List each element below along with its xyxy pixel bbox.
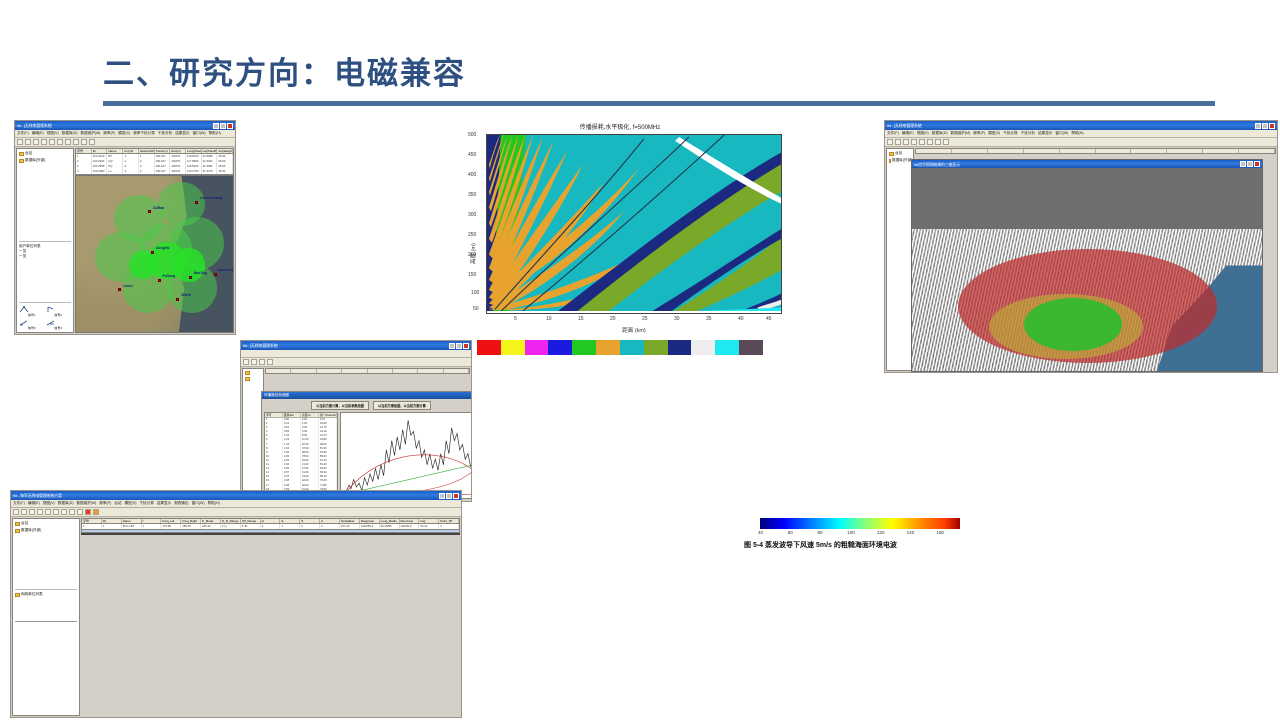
city-marker[interactable] <box>176 298 179 301</box>
tree-item-database[interactable]: 数据库(外部) <box>889 158 911 163</box>
grid-line-horizontal <box>82 534 459 535</box>
tree-divider <box>15 621 77 622</box>
y-coordinate-label: 37 000N <box>86 534 97 535</box>
profile-table[interactable]: 序号 距离/km 高度/m 第一Fresnel/m 10.200.000.072… <box>264 412 338 499</box>
sky <box>912 168 1262 237</box>
folder-icon <box>19 159 24 163</box>
window-title: rfa - 海军无线电管理系统方案 <box>13 493 62 498</box>
y-tick: 300 <box>468 212 476 218</box>
y-tick: 150 <box>468 272 476 278</box>
antenna-icon[interactable] <box>89 139 95 145</box>
menu-item[interactable]: 模型(X) <box>988 131 1000 136</box>
menu-item[interactable]: 干扰计算 <box>1003 131 1017 136</box>
table-row[interactable]: 4103.2980Lu-14100.107100071119 275031.42… <box>76 169 233 174</box>
panel-network-link-map[interactable]: rfa - 海军无线电管理系统方案 文件(F) 编辑(E) 视图(V) 数据库(… <box>10 490 462 718</box>
tree-item-database[interactable]: 数据库(外部) <box>19 158 71 163</box>
toolbar[interactable] <box>241 358 471 367</box>
paste-icon[interactable] <box>57 139 63 145</box>
new-icon[interactable] <box>13 509 19 515</box>
node-marker[interactable] <box>225 534 228 535</box>
node-marker[interactable] <box>286 534 289 535</box>
y-tick: 100 <box>471 290 479 296</box>
column-header[interactable]: Recvnote <box>400 519 420 523</box>
zoom-out-icon[interactable] <box>69 509 75 515</box>
menu-item[interactable]: 频率干扰计算 <box>133 131 155 136</box>
dialog-titlebar[interactable]: 传播路径剖面图 <box>262 392 472 399</box>
menu-item[interactable]: 帮助(H) <box>209 131 221 136</box>
zoom-in-icon[interactable] <box>919 139 925 145</box>
x-tick: 25 <box>642 316 648 322</box>
node-marker[interactable] <box>221 534 224 535</box>
window-titlebar[interactable]: rfa - [无线电管理系统] <box>15 121 235 130</box>
x-tick: 10 <box>546 316 552 322</box>
compute-current-scheme-button[interactable]: 以当前方案计算，以当前参数绘图 <box>311 401 369 410</box>
y-tick: 200 <box>468 252 476 258</box>
panel-terrain-profile-app[interactable]: rfa - [无线电管理系统] rfa - [无线电管理系统] 传播路径剖面图 … <box>240 340 472 502</box>
window-titlebar[interactable]: rfa - [无线电管理系统] <box>885 121 1277 130</box>
column-header[interactable]: Long(%aoRe) <box>186 149 202 153</box>
colorbar-tick: 100 <box>847 530 877 535</box>
colorbar-ticks: 40 60 80 100 120 140 160 <box>758 530 966 535</box>
node-marker[interactable] <box>308 534 311 535</box>
x-coordinate-label: 117 800E <box>402 534 415 535</box>
y-tick: 500 <box>468 132 476 138</box>
colorbar-tick: 60 <box>788 530 818 535</box>
column-header[interactable]: Netwlabel <box>340 519 360 523</box>
menubar[interactable]: 文件(F) 编辑(E) 视图(V) 数据库(D) 数据维护(M) 频率(P) 模… <box>885 130 1277 138</box>
window-titlebar[interactable]: rfa - 海军无线电管理系统方案 <box>11 491 461 500</box>
link-map[interactable]: 116 000E 118 000E 117 000E 117 500E 117 … <box>81 533 460 535</box>
zoom-out-icon[interactable] <box>927 139 933 145</box>
figure-caption-5-4: 图 5-4 蒸发波导下风速 5m/s 的粗糙海面环境电波 <box>744 540 1044 550</box>
x-tick: 35 <box>706 316 712 322</box>
menu-item[interactable]: 数据维护(M) <box>81 131 101 136</box>
open-icon[interactable] <box>21 509 27 515</box>
city-label: WuHu <box>181 293 191 297</box>
node-marker[interactable] <box>297 534 300 535</box>
maximize-icon[interactable] <box>1247 161 1253 167</box>
check-icon[interactable] <box>53 509 59 515</box>
minimize-icon[interactable] <box>449 343 455 349</box>
city-marker[interactable] <box>189 276 192 279</box>
node-marker[interactable] <box>191 534 194 535</box>
column-header[interactable]: H <box>261 519 281 523</box>
column-header[interactable]: E <box>280 519 300 523</box>
column-header[interactable]: 序号 <box>265 413 283 417</box>
node-marker[interactable] <box>271 534 274 535</box>
menu-item[interactable]: 编辑(E) <box>28 501 40 506</box>
column-header[interactable]: NetworkID <box>139 149 155 153</box>
node-marker[interactable] <box>286 534 289 535</box>
column-header[interactable]: P_Mode <box>201 519 221 523</box>
table-body[interactable]: 10.200.000.0720.411.0016.0030.612.0021.7… <box>265 418 337 499</box>
city-marker[interactable] <box>214 273 217 276</box>
save-icon[interactable] <box>259 359 265 365</box>
window-title: rfa - [无线电管理系统] <box>243 343 278 348</box>
undo-icon[interactable] <box>65 139 71 145</box>
node-marker[interactable] <box>263 534 266 535</box>
antenna-icon[interactable] <box>943 139 949 145</box>
colorbar-tick: 80 <box>817 530 847 535</box>
node-marker[interactable] <box>225 534 228 535</box>
menu-item[interactable]: 台站 <box>114 501 121 506</box>
colorbar-tick: 140 <box>907 530 937 535</box>
node-marker[interactable] <box>297 534 300 535</box>
tree-panel[interactable]: 台站 数据库(外部) <box>886 148 914 371</box>
menu-item[interactable]: 视图(V) <box>917 131 929 136</box>
record-icon[interactable] <box>85 509 91 515</box>
menu-item[interactable]: 窗口(W) <box>193 131 206 136</box>
menu-item[interactable]: 报表输出 <box>174 501 188 506</box>
save-icon[interactable] <box>903 139 909 145</box>
open-icon[interactable] <box>895 139 901 145</box>
menu-item[interactable]: 文件(F) <box>887 131 899 136</box>
node-marker[interactable] <box>180 534 183 535</box>
menu-item[interactable]: 结果显示 <box>1038 131 1052 136</box>
tree-item[interactable] <box>245 371 261 375</box>
tree-item-label: 数据库(外部) <box>25 158 45 163</box>
child-window-titlebar[interactable]: rfa信号预测结果的三维显示 <box>912 160 1262 168</box>
panel-terrain-3d-coverage[interactable]: rfa - [无线电管理系统] 文件(F) 编辑(E) 视图(V) 数据库(D)… <box>884 120 1278 373</box>
pan-icon[interactable] <box>935 139 941 145</box>
city-marker[interactable] <box>148 210 151 213</box>
city-label: FuDong <box>162 274 175 278</box>
node-marker[interactable] <box>195 534 198 535</box>
menu-item[interactable]: 干扰分析 <box>1021 131 1035 136</box>
profile-plot <box>340 412 472 499</box>
node-marker[interactable] <box>267 534 270 535</box>
folder-icon <box>15 522 20 526</box>
close-icon[interactable] <box>463 343 469 349</box>
column-header[interactable]: Trans(m) <box>155 149 171 153</box>
close-icon[interactable] <box>453 493 459 499</box>
window-title: rfa - [无线电管理系统] <box>887 123 922 128</box>
column-header[interactable]: Reqgroup <box>360 519 380 523</box>
toolbar[interactable] <box>885 138 1277 147</box>
city-marker[interactable] <box>118 288 121 291</box>
print-icon[interactable] <box>911 139 917 145</box>
tree-item-stations[interactable]: 台站 <box>15 521 77 526</box>
signal-icon-1[interactable]: 信号1 <box>19 305 45 317</box>
coverage-green-zone <box>1024 298 1122 351</box>
node-marker[interactable] <box>267 534 270 535</box>
y-coordinate-label: 39 000N <box>86 534 97 535</box>
menubar[interactable]: 文件(F) 编辑(E) 视图(V) 数据库(D) 数据维护(M) 频率(P) 模… <box>15 130 235 138</box>
plot-current-scheme-button[interactable]: 以当前方案绘图，以当前方案计算 <box>373 401 431 410</box>
menu-item[interactable]: 编辑(E) <box>902 131 914 136</box>
colorbar-tick: 120 <box>877 530 907 535</box>
column-header[interactable]: Lat(%aoRe) <box>202 149 218 153</box>
menu-item[interactable]: 频率(P) <box>103 131 115 136</box>
city-label: NanJing <box>194 271 207 275</box>
column-header[interactable]: A <box>320 519 340 523</box>
cut-icon[interactable] <box>41 139 47 145</box>
signal-icon-4[interactable]: 信号4 <box>46 318 72 330</box>
column-header[interactable]: f <box>142 519 162 523</box>
new-icon[interactable] <box>887 139 893 145</box>
menu-item[interactable]: 结果显示 <box>175 131 189 136</box>
tree-item-database[interactable]: 数据库(外部) <box>15 528 77 533</box>
city-label: DongTai <box>156 246 169 250</box>
node-marker[interactable] <box>191 534 194 535</box>
column-header[interactable]: 距离/km <box>283 413 301 417</box>
link-icon[interactable] <box>45 509 51 515</box>
column-header[interactable]: D_R_Range <box>221 519 241 523</box>
open-icon[interactable] <box>25 139 31 145</box>
coverage-map[interactable]: LianYunGang ZuiBao DongTai FuDong LinAn … <box>75 175 234 333</box>
terrain-profile-dialog[interactable]: 传播路径剖面图 以当前方案计算，以当前参数绘图 以当前方案绘图，以当前方案计算 … <box>261 391 472 502</box>
signal-icon-2[interactable]: 信号2 <box>46 305 72 317</box>
coverage-core <box>129 251 157 279</box>
menubar[interactable]: rfa - [无线电管理系统] <box>241 350 471 358</box>
tree-panel[interactable]: 台站 数据库(外部) 网络单位列表 <box>12 518 80 716</box>
grid-line-horizontal <box>82 534 459 535</box>
column-header[interactable]: S <box>300 519 320 523</box>
warning-icon[interactable] <box>93 509 99 515</box>
menu-item[interactable]: 模型(X) <box>124 501 136 506</box>
y-tick: 350 <box>468 192 476 198</box>
column-header[interactable]: Point_RT <box>439 519 459 523</box>
folder-icon <box>19 152 24 156</box>
unit-list-section: 用户单位列表 一览 一览 <box>19 241 71 259</box>
menu-item[interactable]: 数据库(D) <box>62 131 78 136</box>
menu-item[interactable]: 视图(V) <box>47 131 59 136</box>
child-window-3d[interactable]: rfa信号预测结果的三维显示 <box>911 159 1263 372</box>
pan-icon[interactable] <box>77 509 83 515</box>
menu-item[interactable]: 数据维护(M) <box>951 131 971 136</box>
column-header[interactable]: Long_Radio <box>380 519 400 523</box>
column-header[interactable]: 高度/m <box>301 413 319 417</box>
maximize-icon[interactable] <box>1262 123 1268 129</box>
city-label: YanCheng <box>217 268 234 272</box>
map-region-tooltip[interactable]: Huabei <box>97 534 133 535</box>
column-header[interactable]: 序号 <box>82 519 102 523</box>
node-marker[interactable] <box>293 534 296 535</box>
x-tick: 45 <box>766 316 772 322</box>
folder-icon <box>889 159 891 163</box>
menu-item[interactable]: 数据维护(M) <box>77 501 97 506</box>
terrain-3d-view[interactable] <box>912 168 1262 371</box>
grid-line-horizontal <box>82 534 459 535</box>
station-table-header <box>915 148 1276 154</box>
x-tick: 15 <box>578 316 584 322</box>
window-titlebar[interactable]: rfa - [无线电管理系统] <box>241 341 471 350</box>
y-tick: 400 <box>468 172 476 178</box>
column-header[interactable]: 第一Fresnel/m <box>319 413 337 417</box>
discrete-colorbar <box>477 340 763 355</box>
save-icon[interactable] <box>33 139 39 145</box>
window-buttons[interactable] <box>1240 161 1260 167</box>
menu-item[interactable]: 窗口(W) <box>192 501 205 506</box>
column-header[interactable]: Rec(m) <box>170 149 186 153</box>
x-coordinate-label: 117 500E <box>353 534 366 535</box>
window-buttons[interactable] <box>439 493 459 499</box>
folder-icon <box>245 371 250 375</box>
save-icon[interactable] <box>29 509 35 515</box>
menu-item[interactable]: 文件(F) <box>13 501 25 506</box>
title-divider <box>103 101 1215 106</box>
tree-panel[interactable]: 台站 数据库(外部) 用户单位列表 一览 一览 信号1 信号2 信号3 信号4 <box>16 148 74 333</box>
folder-icon <box>15 529 20 533</box>
y-tick: 450 <box>468 152 476 158</box>
menu-item[interactable]: 模型(X) <box>118 131 130 136</box>
node-marker[interactable] <box>225 534 228 535</box>
x-axis-label: 距离 (km) <box>486 326 782 334</box>
new-icon[interactable] <box>17 139 23 145</box>
station-table-body[interactable]: 1103.2910BT-11100.107100071118 815031.50… <box>75 154 234 175</box>
contour-field <box>487 135 781 311</box>
signal-icon-palette[interactable]: 信号1 信号2 信号3 信号4 <box>19 302 71 330</box>
page-title: 二、研究方向：电磁兼容 <box>103 48 466 93</box>
copy-icon[interactable] <box>49 139 55 145</box>
node-marker[interactable] <box>278 534 281 535</box>
maximize-icon[interactable] <box>220 123 226 129</box>
x-coordinate-label: 117 000E <box>293 534 306 535</box>
menu-item[interactable]: 频率(P) <box>99 501 111 506</box>
x-tick: 5 <box>514 316 517 322</box>
menu-item[interactable]: 文件(F) <box>17 131 29 136</box>
city-marker[interactable] <box>195 201 198 204</box>
window-title: rfa - [无线电管理系统] <box>17 123 52 128</box>
menu-item[interactable]: 窗口(W) <box>1055 131 1068 136</box>
column-header[interactable]: Name <box>122 519 142 523</box>
x-tick: 20 <box>610 316 616 322</box>
chart-title: 传播损耗,水平极化, f=500MHz <box>448 122 792 131</box>
new-icon[interactable] <box>243 359 249 365</box>
column-header[interactable]: Off_Range <box>241 519 261 523</box>
window-buttons[interactable] <box>1255 123 1275 129</box>
dialog-action-row[interactable]: 以当前方案计算，以当前参数绘图 以当前方案绘图，以当前方案计算 <box>262 399 472 412</box>
redo-icon[interactable] <box>73 139 79 145</box>
panel-propagation-loss-discrete: 传播损耗,水平极化, f=500MHz 高度 (m) <box>448 120 792 348</box>
column-header[interactable]: Freq_Right <box>181 519 201 523</box>
column-header[interactable]: Cn(x)0 <box>123 149 139 153</box>
city-label: LinAn <box>123 284 133 288</box>
column-header[interactable]: 序号 <box>76 149 92 153</box>
window-buttons[interactable] <box>449 343 469 349</box>
y-tick: 250 <box>468 232 476 238</box>
tree-item-stations[interactable]: 台站 <box>19 151 71 156</box>
table-row[interactable]: 11 4F0 1-861 175.30185.40 230.402 (-) 5.… <box>82 524 459 529</box>
plot-area <box>486 134 782 314</box>
colorbar-tick: 160 <box>936 530 966 535</box>
tree-item-stations[interactable]: 台站 <box>889 151 911 156</box>
close-icon[interactable] <box>1254 161 1260 167</box>
column-header[interactable]: Ant(Height) <box>217 149 233 153</box>
column-header[interactable]: Freq_Lat <box>161 519 181 523</box>
menu-item[interactable]: 编辑(E) <box>32 131 44 136</box>
x-coordinate-label: 118 000E <box>244 534 257 535</box>
maximize-icon[interactable] <box>446 493 452 499</box>
print-icon[interactable] <box>267 359 273 365</box>
menu-item[interactable]: 结果显示 <box>157 501 171 506</box>
menu-item[interactable]: 频率(P) <box>973 131 985 136</box>
city-label: LianYunGang <box>200 196 222 200</box>
menubar[interactable]: 文件(F) 编辑(E) 视图(V) 数据库(D) 数据维护(M) 频率(P) 台… <box>11 500 461 508</box>
column-header[interactable]: Img <box>419 519 439 523</box>
tree-item-network-units[interactable]: 网络单位列表 <box>15 589 77 597</box>
maximize-icon[interactable] <box>456 343 462 349</box>
column-header[interactable]: ID <box>102 519 122 523</box>
node-marker[interactable] <box>191 534 194 535</box>
column-header[interactable]: ID <box>92 149 108 153</box>
unit-list-row: 一览 <box>19 254 71 259</box>
y-coordinate-label: 37 500N <box>86 534 97 535</box>
zoom-in-icon[interactable] <box>61 509 67 515</box>
node-marker[interactable] <box>237 534 240 535</box>
y-tick: 50 <box>473 306 479 312</box>
close-icon[interactable] <box>1269 123 1275 129</box>
table-header <box>265 368 470 374</box>
minimize-icon[interactable] <box>439 493 445 499</box>
column-header[interactable]: Name <box>107 149 123 153</box>
child-window-title: rfa信号预测结果的三维显示 <box>914 162 960 167</box>
tree-item-label: 台站 <box>25 151 32 156</box>
city-label: ZuiBao <box>153 206 165 210</box>
minimize-icon[interactable] <box>1255 123 1261 129</box>
city-marker[interactable] <box>151 251 154 254</box>
x-tick: 40 <box>738 316 744 322</box>
panel-spectrum-management-map[interactable]: rfa - [无线电管理系统] 文件(F) 编辑(E) 视图(V) 数据库(D)… <box>14 120 236 335</box>
toolbar[interactable] <box>15 138 235 147</box>
menu-item[interactable]: 视图(V) <box>43 501 55 506</box>
tree-item[interactable] <box>245 377 261 381</box>
menu-item[interactable]: 干扰分析 <box>158 131 172 136</box>
window-buttons[interactable] <box>213 123 233 129</box>
close-icon[interactable] <box>227 123 233 129</box>
minimize-icon[interactable] <box>1240 161 1246 167</box>
menu-item[interactable]: 数据库(D) <box>58 501 74 506</box>
dialog-title: 传播路径剖面图 <box>264 393 289 398</box>
menu-item[interactable]: 帮助(H) <box>208 501 220 506</box>
x-tick: 30 <box>674 316 680 322</box>
node-marker[interactable] <box>233 534 236 535</box>
zoom-icon[interactable] <box>81 139 87 145</box>
jet-colorbar <box>760 518 960 529</box>
folder-icon <box>245 377 250 381</box>
city-marker[interactable] <box>158 279 161 282</box>
menu-item[interactable]: 数据库(D) <box>932 131 948 136</box>
toolbar[interactable] <box>11 508 461 517</box>
menu-item[interactable]: 帮助(H) <box>1071 131 1083 136</box>
node-marker[interactable] <box>206 534 209 535</box>
folder-icon <box>15 593 20 597</box>
menu-item[interactable]: 干扰计算 <box>139 501 153 506</box>
signal-icon-3[interactable]: 信号3 <box>19 318 45 330</box>
x-coordinate-label: 116 000E <box>176 534 189 535</box>
folder-icon <box>889 152 894 156</box>
colorbar-tick: 40 <box>758 530 788 535</box>
open-icon[interactable] <box>251 359 257 365</box>
minimize-icon[interactable] <box>213 123 219 129</box>
filter-icon[interactable] <box>37 509 43 515</box>
terrain-profile-curves <box>341 413 472 498</box>
